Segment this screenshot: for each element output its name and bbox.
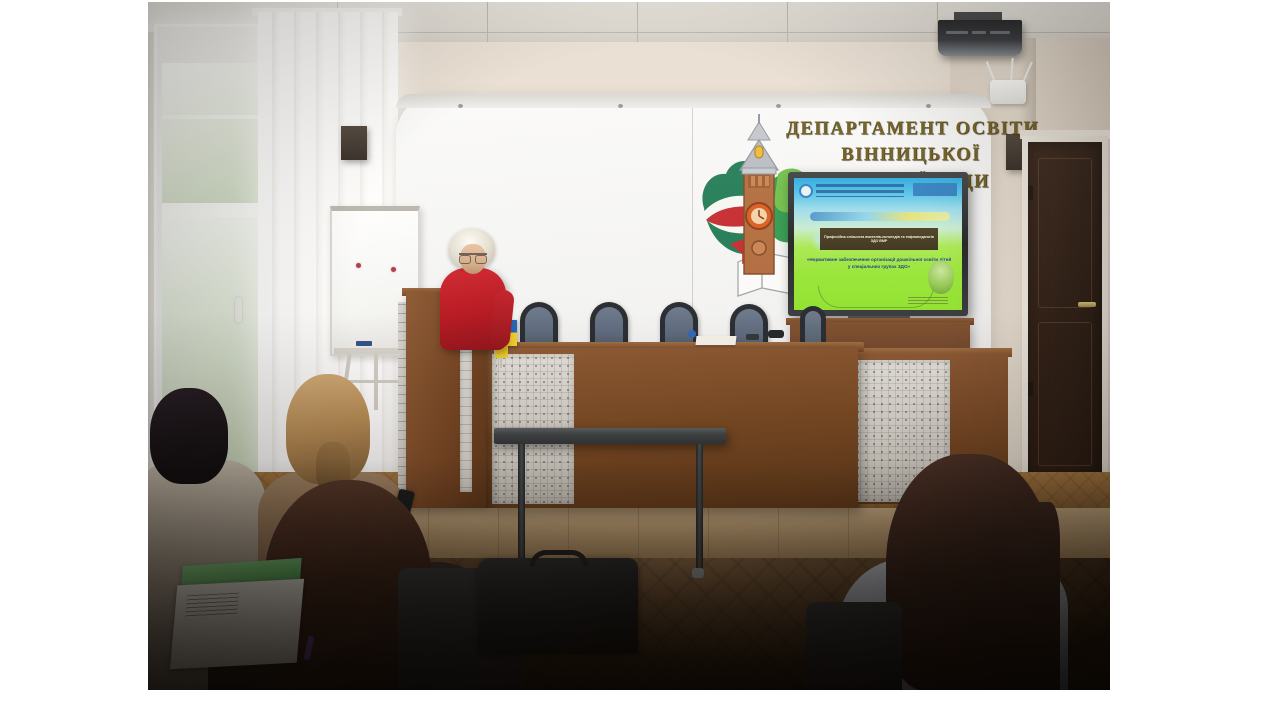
- conference-hall-photo: ДЕПАРТАМЕНТ ОСВІТИ ВІННИЦЬКОЇ МІСЬКОЇ РА…: [148, 2, 1110, 690]
- wall-heading-line1: ДЕПАРТАМЕНТ ОСВІТИ: [786, 116, 1036, 142]
- wifi-router: [990, 80, 1026, 104]
- black-bag[interactable]: [478, 558, 638, 654]
- marker-pen[interactable]: [356, 341, 372, 346]
- slide-footer-text: [908, 297, 948, 304]
- door-handle[interactable]: [1078, 302, 1096, 307]
- bag-handle[interactable]: [530, 550, 588, 566]
- ceiling-projector: [938, 20, 1022, 56]
- slide-header-bar: Професійна спільнота вчителів-логопедів …: [820, 228, 938, 250]
- window-pane-upper: [162, 63, 258, 203]
- presentation-slide: Професійна спільнота вчителів-логопедів …: [794, 178, 962, 310]
- slide-ribbon: [810, 212, 950, 221]
- slide-photo-circle: [928, 260, 954, 294]
- eyeglasses-icon: [459, 253, 487, 260]
- entrance-door[interactable]: [1028, 142, 1102, 480]
- wall-speaker-left: [341, 126, 367, 160]
- slide-logo-icon: [799, 184, 813, 198]
- wall-heading-line2: ВІННИЦЬКОЇ: [786, 142, 1036, 168]
- attendee-4-hair-strand: [1008, 502, 1060, 690]
- screen-surface: Професійна спільнота вчителів-логопедів …: [794, 178, 962, 310]
- screenshot-canvas: ДЕПАРТАМЕНТ ОСВІТИ ВІННИЦЬКОЇ МІСЬКОЇ РА…: [0, 0, 1280, 720]
- window-handle[interactable]: [235, 297, 242, 323]
- mobile-table-top: [494, 428, 726, 444]
- mobile-table-caster-right: [692, 568, 704, 578]
- attendee-1-head: [150, 388, 228, 484]
- desk-papers[interactable]: [696, 336, 737, 345]
- audience-chair-right[interactable]: [806, 602, 902, 690]
- flipchart-center-post: [374, 354, 378, 410]
- microphone[interactable]: [768, 330, 784, 338]
- slide-org-text: [816, 184, 904, 197]
- water-bottle-cap[interactable]: [688, 330, 696, 338]
- interactive-whiteboard[interactable]: Професійна спільнота вчителів-логопедів …: [788, 172, 968, 316]
- slide-corner-badge: [913, 183, 957, 196]
- slide-header-text: Професійна спільнота вчителів-логопедів …: [823, 235, 935, 244]
- document-text-lines: [185, 593, 239, 620]
- remote-control[interactable]: [746, 334, 759, 340]
- mobile-table-leg-right: [696, 444, 703, 570]
